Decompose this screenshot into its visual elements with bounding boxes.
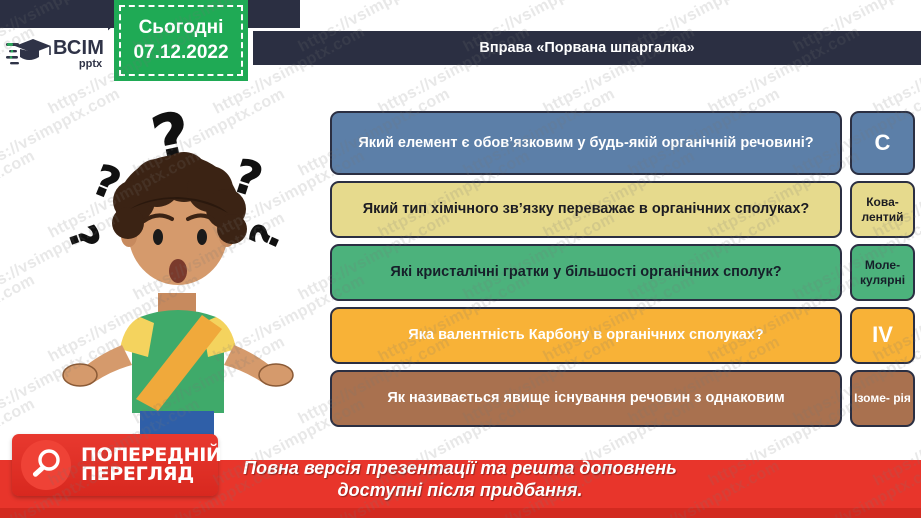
answer-card[interactable]: IV [850,307,915,364]
slide-root: ВСІМ pptx Сьогодні 07.12.2022 Вправа «По… [0,0,921,518]
table-row: Які кристалічні гратки у більшості орган… [330,244,915,301]
logo-title: ВСІМ [53,38,104,58]
table-row: Який елемент є обов’язковим у будь-якій … [330,111,915,175]
banner-line-1: Повна версія презентації та решта доповн… [140,458,780,480]
answer-card[interactable]: Кова- лентий [850,181,915,238]
answer-card[interactable]: Моле- кулярні [850,244,915,301]
answer-card[interactable]: Ізоме- рія [850,370,915,427]
svg-text:?: ? [241,218,290,256]
question-text[interactable]: Які кристалічні гратки у більшості орган… [330,244,842,301]
graduation-cap-icon [6,37,52,71]
table-row: Яка валентність Карбону в органічних спо… [330,307,915,364]
slide-header-bar: Вправа «Порвана шпаргалка» [253,31,921,65]
date-value: 07.12.2022 [133,42,228,64]
today-date-badge: Сьогодні 07.12.2022 [114,0,248,81]
magnifier-icon [21,440,71,490]
svg-text:?: ? [62,220,108,256]
date-label: Сьогодні [139,17,224,39]
table-row: Як називається явище існування речовин з… [330,370,915,427]
question-text[interactable]: Який елемент є обов’язковим у будь-якій … [330,111,842,175]
banner-line-2: доступні після придбання. [140,480,780,502]
confused-boy-illustration: ? ? ? ? ? [62,103,324,443]
question-text[interactable]: Який тип хімічного зв’язку переважає в о… [330,181,842,238]
question-text[interactable]: Яка валентність Карбону в органічних спо… [330,307,842,364]
logo-subtitle: pptx [79,59,102,70]
purchase-banner-text: Повна версія презентації та решта доповн… [140,458,780,502]
question-text[interactable]: Як називається явище існування речовин з… [330,370,842,427]
brand-logo[interactable]: ВСІМ pptx [0,28,108,80]
table-row: Який тип хімічного зв’язку переважає в о… [330,181,915,238]
answer-card[interactable]: С [850,111,915,175]
question-rows: Який елемент є обов’язковим у будь-якій … [330,111,915,427]
page-title: Вправа «Порвана шпаргалка» [479,40,694,56]
